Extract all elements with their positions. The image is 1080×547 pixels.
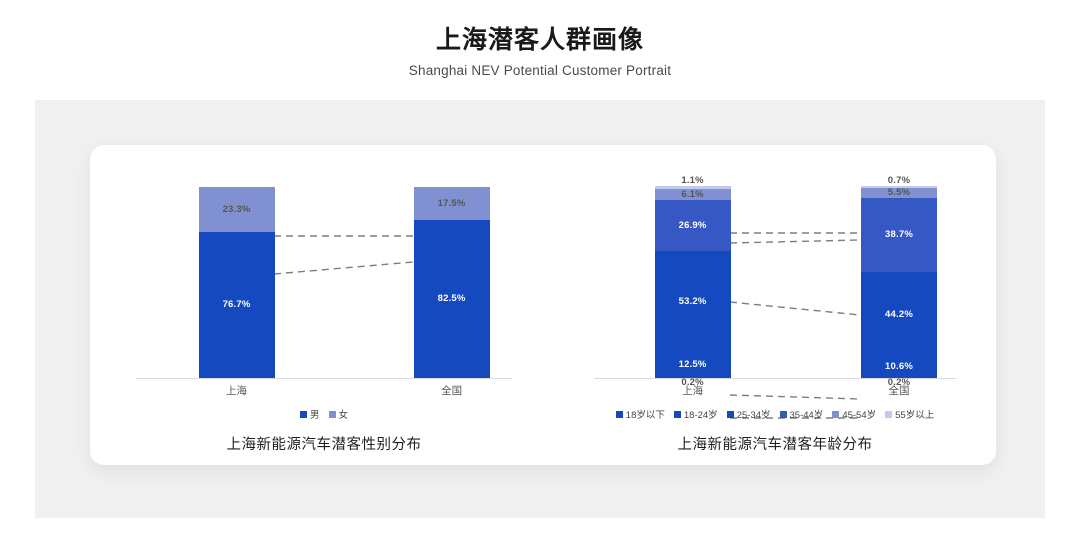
gender-bar-national[interactable]: 82.5% 17.5%: [414, 187, 490, 378]
legend-swatch-icon: [674, 411, 681, 418]
legend-label: 男: [310, 407, 320, 421]
gender-seg-male-national[interactable]: 82.5%: [414, 220, 490, 378]
age-category-ticks: 上海 全国: [560, 383, 990, 399]
age-seg-label: 26.9%: [679, 221, 707, 231]
gender-seg-label: 76.7%: [223, 300, 251, 310]
gender-bar-shanghai[interactable]: 76.7% 23.3%: [199, 187, 275, 378]
legend-item[interactable]: 18-24岁: [674, 407, 718, 421]
legend-item[interactable]: 45-54岁: [832, 407, 876, 421]
age-seg-label: 10.6%: [885, 362, 913, 372]
age-seg-label: 38.7%: [885, 230, 913, 240]
gender-category-ticks: 上海 全国: [100, 383, 548, 399]
gender-legend: 男 女: [100, 407, 548, 421]
age-seg-label: 5.5%: [888, 188, 910, 198]
gender-tick-shanghai: 上海: [192, 383, 282, 398]
gender-seg-label: 17.5%: [438, 199, 466, 209]
age-seg-25-34-shanghai[interactable]: 53.2%: [655, 251, 731, 353]
age-seg-over55-national[interactable]: 0.7%: [861, 186, 937, 188]
legend-item[interactable]: 35-44岁: [780, 407, 824, 421]
gender-tick-national: 全国: [407, 383, 497, 398]
age-seg-label: 44.2%: [885, 310, 913, 320]
age-seg-label: 6.1%: [681, 190, 703, 200]
age-plot-area: 0.2% 12.5% 53.2% 26.9% 6.1% 1.: [560, 187, 990, 379]
legend-swatch-icon: [727, 411, 734, 418]
gender-seg-female-national[interactable]: 17.5%: [414, 187, 490, 220]
legend-label: 55岁以上: [895, 407, 934, 421]
age-legend: 18岁以下 18-24岁 25-34岁 35-44岁 45-54岁: [560, 407, 990, 421]
legend-label: 18岁以下: [626, 407, 665, 421]
age-tick-national: 全国: [854, 383, 944, 398]
charts-card: 76.7% 23.3% 82.5% 17.5% 上海: [90, 145, 996, 465]
slide-root: 上海潜客人群画像 Shanghai NEV Potential Customer…: [0, 0, 1080, 547]
legend-item[interactable]: 55岁以上: [885, 407, 934, 421]
legend-item[interactable]: 女: [329, 407, 349, 421]
gender-seg-female-shanghai[interactable]: 23.3%: [199, 187, 275, 232]
age-seg-label: 1.1%: [681, 176, 703, 186]
gender-chart-caption: 上海新能源汽车潜客性别分布: [100, 433, 548, 454]
header: 上海潜客人群画像 Shanghai NEV Potential Customer…: [0, 24, 1080, 80]
age-seg-35-44-shanghai[interactable]: 26.9%: [655, 200, 731, 251]
legend-swatch-icon: [832, 411, 839, 418]
age-seg-45-54-shanghai[interactable]: 6.1%: [655, 189, 731, 200]
age-bar-national[interactable]: 0.2% 10.6% 44.2% 38.7% 5.5% 0.: [861, 186, 937, 378]
legend-item[interactable]: 男: [300, 407, 320, 421]
gender-plot-area: 76.7% 23.3% 82.5% 17.5%: [100, 187, 548, 379]
legend-item[interactable]: 18岁以下: [616, 407, 665, 421]
age-seg-label: 12.5%: [679, 360, 707, 370]
legend-swatch-icon: [300, 411, 307, 418]
age-seg-25-34-national[interactable]: 44.2%: [861, 272, 937, 357]
legend-swatch-icon: [329, 411, 336, 418]
age-seg-label: 0.7%: [888, 176, 910, 186]
legend-label: 18-24岁: [684, 407, 718, 421]
age-seg-over55-shanghai[interactable]: 1.1%: [655, 186, 731, 189]
age-seg-under18-shanghai[interactable]: 0.2%: [655, 377, 731, 378]
legend-swatch-icon: [780, 411, 787, 418]
page-title: 上海潜客人群画像: [0, 24, 1080, 56]
page-subtitle: Shanghai NEV Potential Customer Portrait: [0, 62, 1080, 80]
age-seg-under18-national[interactable]: 0.2%: [861, 377, 937, 378]
age-seg-35-44-national[interactable]: 38.7%: [861, 198, 937, 272]
age-tick-shanghai: 上海: [648, 383, 738, 398]
legend-swatch-icon: [885, 411, 892, 418]
legend-label: 25-34岁: [737, 407, 771, 421]
legend-swatch-icon: [616, 411, 623, 418]
chart-age: 0.2% 12.5% 53.2% 26.9% 6.1% 1.: [560, 145, 990, 465]
legend-item[interactable]: 25-34岁: [727, 407, 771, 421]
age-seg-45-54-national[interactable]: 5.5%: [861, 188, 937, 198]
chart-gender: 76.7% 23.3% 82.5% 17.5% 上海: [100, 145, 548, 465]
legend-label: 女: [339, 407, 349, 421]
gender-seg-label: 82.5%: [438, 294, 466, 304]
legend-label: 45-54岁: [842, 407, 876, 421]
age-seg-label: 53.2%: [679, 297, 707, 307]
legend-label: 35-44岁: [790, 407, 824, 421]
age-chart-caption: 上海新能源汽车潜客年龄分布: [560, 433, 990, 454]
gender-seg-male-shanghai[interactable]: 76.7%: [199, 232, 275, 378]
age-seg-18-24-shanghai[interactable]: 12.5%: [655, 353, 731, 377]
gender-axis-line: [136, 378, 512, 379]
gender-seg-label: 23.3%: [223, 205, 251, 215]
age-bar-shanghai[interactable]: 0.2% 12.5% 53.2% 26.9% 6.1% 1.: [655, 186, 731, 378]
age-seg-18-24-national[interactable]: 10.6%: [861, 357, 937, 377]
